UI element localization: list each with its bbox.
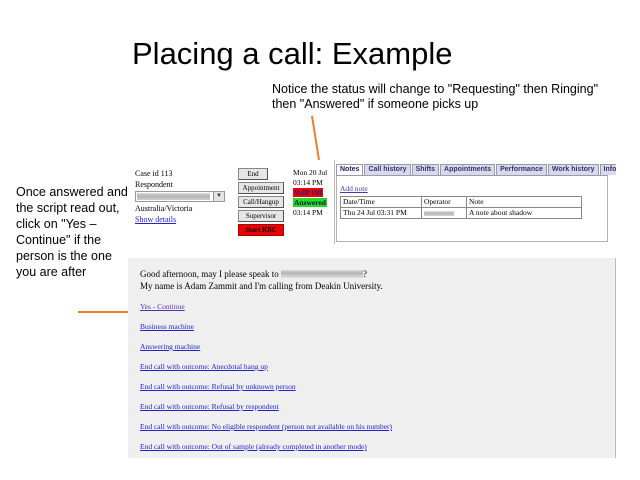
option-no-eligible-respondent[interactable]: End call with outcome: No eligible respo… [140, 422, 392, 431]
tab-performance[interactable]: Performance [496, 164, 547, 175]
add-note-link[interactable]: Add note [340, 184, 368, 193]
table-row[interactable]: Thu 24 Jul 03:31 PM A note about shadow [341, 208, 582, 219]
start-rbc-button[interactable]: Start RBC [238, 224, 284, 236]
cell-operator [422, 208, 467, 219]
option-refusal-unknown-person[interactable]: End call with outcome: Refusal by unknow… [140, 382, 296, 391]
tab-shifts[interactable]: Shifts [412, 164, 439, 175]
script-greeting-text: Good afternoon, may I please speak to [140, 269, 281, 279]
show-details-link[interactable]: Show details [135, 214, 231, 225]
tab-panel: Notes Call history Shifts Appointments P… [336, 164, 608, 242]
script-line-greeting: Good afternoon, may I please speak to ? [140, 268, 603, 280]
status-time-bottom: 03:14 PM [293, 208, 337, 218]
annotation-arrow-left [78, 311, 132, 313]
appointment-button[interactable]: Appointment [238, 182, 284, 194]
tab-appointments[interactable]: Appointments [440, 164, 495, 175]
case-id-label: Case id 113 [135, 168, 231, 179]
tab-info[interactable]: Info [600, 164, 616, 175]
app-toolbar-region: Case id 113 Respondent ▼ Australia/Victo… [128, 160, 616, 244]
option-yes-continue[interactable]: Yes - Continue [140, 302, 185, 311]
operator-name-redaction [424, 211, 454, 216]
call-status-column: Mon 20 Jul 03:14 PM VoIP Off Answered 03… [293, 168, 337, 218]
chevron-down-icon[interactable]: ▼ [213, 192, 224, 201]
region-label: Australia/Victoria [135, 203, 231, 214]
tab-content-notes: Add note Date/Time Operator Note Thu 24 … [336, 176, 608, 242]
status-date: Mon 20 Jul [293, 168, 337, 178]
tab-call-history[interactable]: Call history [364, 164, 410, 175]
panel-divider [334, 160, 335, 244]
option-refusal-respondent[interactable]: End call with outcome: Refusal by respon… [140, 402, 279, 411]
annotation-status-change: Notice the status will change to "Reques… [272, 82, 602, 112]
column-header-datetime: Date/Time [341, 197, 422, 208]
option-out-of-sample[interactable]: End call with outcome: Out of sample (al… [140, 442, 367, 451]
call-control-buttons: End Appointment Call/Hangup Supervisor S… [238, 168, 286, 238]
option-answering-machine[interactable]: Answering machine [140, 342, 200, 351]
supervisor-button[interactable]: Supervisor [238, 210, 284, 222]
respondent-name-redaction [137, 193, 210, 200]
option-anecdotal-hang-up[interactable]: End call with outcome: Anecdotal hang up [140, 362, 268, 371]
script-panel: Good afternoon, may I please speak to ? … [128, 258, 616, 458]
respondent-select[interactable]: ▼ [135, 191, 225, 202]
script-option-list: Yes - Continue Business machine Answerin… [140, 302, 603, 451]
call-hangup-button[interactable]: Call/Hangup [238, 196, 284, 208]
tab-notes[interactable]: Notes [336, 164, 363, 175]
respondent-label: Respondent [135, 179, 231, 190]
tab-strip: Notes Call history Shifts Appointments P… [336, 164, 608, 176]
script-greeting-suffix: ? [363, 269, 367, 279]
notes-table: Date/Time Operator Note Thu 24 Jul 03:31… [340, 196, 582, 219]
page-title: Placing a call: Example [132, 36, 453, 72]
tab-work-history[interactable]: Work history [548, 164, 599, 175]
voip-status-badge: VoIP Off [293, 188, 323, 197]
column-header-operator: Operator [422, 197, 467, 208]
cell-note: A note about shadow [467, 208, 582, 219]
end-button[interactable]: End [238, 168, 268, 180]
case-info-block: Case id 113 Respondent ▼ Australia/Victo… [135, 168, 231, 225]
call-application-window: Case id 113 Respondent ▼ Australia/Victo… [128, 160, 616, 458]
annotation-yes-continue: Once answered and the script read out, c… [16, 184, 134, 280]
table-header-row: Date/Time Operator Note [341, 197, 582, 208]
status-time-top: 03:14 PM [293, 178, 337, 188]
cell-datetime: Thu 24 Jul 03:31 PM [341, 208, 422, 219]
respondent-name-redaction-inline [281, 270, 363, 278]
call-status-badge: Answered [293, 198, 327, 207]
option-business-machine[interactable]: Business machine [140, 322, 194, 331]
column-header-note: Note [467, 197, 582, 208]
script-line-introduction: My name is Adam Zammit and I'm calling f… [140, 280, 603, 292]
